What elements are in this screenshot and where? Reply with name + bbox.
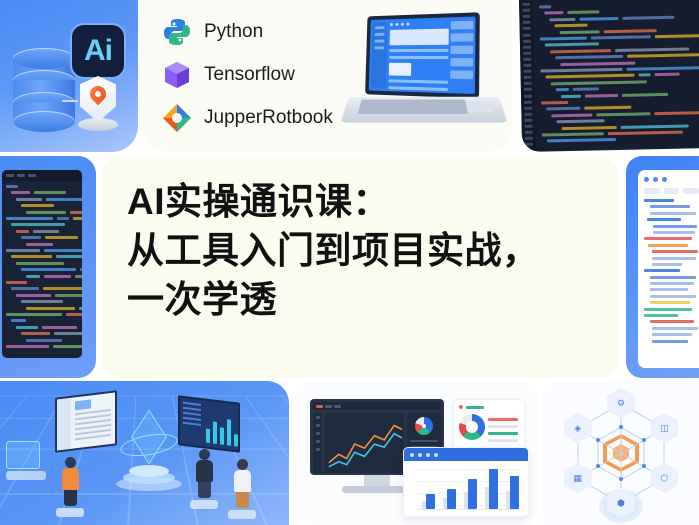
code-line bbox=[608, 131, 683, 136]
note-line bbox=[652, 327, 698, 330]
code-line bbox=[555, 55, 623, 59]
location-pin-icon bbox=[74, 76, 122, 134]
page-title: AI实操通识课： 从工具入门到项目实战， 一次学透 bbox=[127, 178, 609, 324]
code-line bbox=[621, 124, 689, 128]
code-line bbox=[6, 345, 49, 348]
security-tile bbox=[6, 441, 46, 477]
list-item: Tensorflow bbox=[161, 55, 351, 95]
note-line bbox=[650, 288, 688, 291]
code-line bbox=[79, 307, 82, 310]
node-glyph: ◫ bbox=[660, 423, 669, 434]
network-node-4: ⬢ bbox=[607, 488, 635, 518]
code-line bbox=[6, 281, 27, 284]
code-line bbox=[6, 313, 62, 316]
bottom-row: ⚙◫⬡⬢▦◈ bbox=[0, 381, 699, 525]
note-line bbox=[648, 244, 688, 247]
code-line bbox=[539, 5, 551, 8]
top-row: Ai bbox=[0, 0, 699, 152]
code-line bbox=[585, 94, 618, 98]
python-icon bbox=[161, 16, 193, 48]
toolbar-tabs bbox=[644, 188, 699, 194]
code-line bbox=[21, 300, 63, 303]
ai-badge: Ai bbox=[70, 23, 126, 79]
code-line bbox=[544, 11, 563, 14]
network-node-3: ⬡ bbox=[650, 463, 678, 493]
code-line bbox=[16, 294, 51, 297]
code-editor-left-panel bbox=[0, 156, 96, 378]
list-item: JupperRotbook bbox=[161, 98, 351, 138]
code-line bbox=[16, 198, 42, 201]
window-dots bbox=[644, 177, 699, 182]
code-line bbox=[21, 332, 50, 335]
note-line bbox=[650, 301, 690, 304]
note-line bbox=[650, 295, 696, 298]
code-line bbox=[547, 138, 616, 142]
code-line bbox=[43, 287, 82, 290]
code-line bbox=[557, 119, 605, 123]
code-line bbox=[11, 255, 52, 258]
note-line bbox=[650, 212, 696, 215]
document-screen bbox=[55, 390, 117, 453]
code-line bbox=[556, 88, 569, 91]
note-line bbox=[644, 237, 692, 240]
code-line bbox=[560, 30, 600, 34]
node-glyph: ⚙ bbox=[617, 398, 625, 409]
podium bbox=[116, 463, 182, 489]
note-line bbox=[650, 205, 690, 208]
code-line bbox=[26, 211, 66, 214]
code-line bbox=[21, 268, 76, 271]
bar-chart-window bbox=[403, 447, 529, 517]
code-line bbox=[42, 326, 77, 329]
node-glyph: ◈ bbox=[574, 423, 581, 434]
network-vertex bbox=[619, 425, 623, 429]
title-card: AI实操通识课： 从工具入门到项目实战， 一次学透 bbox=[101, 156, 619, 378]
notebook-document-panel bbox=[626, 156, 699, 378]
database-stack-icon bbox=[13, 48, 75, 132]
data-badge-panel: Ai bbox=[0, 0, 138, 152]
code-line bbox=[11, 319, 26, 322]
bar bbox=[447, 489, 456, 509]
code-line bbox=[11, 287, 39, 290]
dashboard-illustration bbox=[295, 381, 537, 525]
node-glyph: ▦ bbox=[573, 473, 582, 484]
title-line-2: 从工具入门到项目实战， bbox=[127, 227, 609, 276]
hologram-cube bbox=[122, 419, 176, 467]
code-line bbox=[75, 275, 82, 278]
code-line bbox=[555, 24, 588, 28]
code-line bbox=[615, 47, 689, 52]
note-line bbox=[653, 231, 695, 234]
code-line bbox=[16, 326, 38, 329]
note-line bbox=[650, 276, 696, 279]
code-line bbox=[584, 106, 631, 110]
network-vertex bbox=[642, 464, 646, 468]
code-line bbox=[6, 185, 18, 188]
note-line bbox=[652, 257, 696, 260]
hexagon-network-diagram: ⚙◫⬡⬢▦◈ bbox=[543, 381, 699, 525]
code-line bbox=[54, 332, 82, 335]
note-line bbox=[647, 218, 681, 221]
list-item: Python bbox=[161, 12, 351, 52]
code-line bbox=[567, 11, 599, 15]
code-line bbox=[542, 132, 604, 136]
note-line bbox=[644, 199, 674, 202]
code-line bbox=[26, 243, 53, 246]
note-line bbox=[644, 269, 680, 272]
code-line bbox=[73, 217, 82, 220]
code-line bbox=[26, 307, 75, 310]
code-line bbox=[540, 68, 622, 73]
network-node-5: ▦ bbox=[564, 463, 592, 493]
code-line bbox=[66, 313, 82, 316]
code-line bbox=[44, 275, 71, 278]
bar bbox=[489, 469, 498, 509]
code-line bbox=[655, 34, 699, 39]
network-node-2: ◫ bbox=[650, 413, 678, 443]
network-node-1: ⚙ bbox=[607, 388, 635, 418]
title-line-1: AI实操通识课： bbox=[127, 178, 609, 227]
note-line bbox=[652, 333, 692, 336]
code-line bbox=[622, 16, 674, 20]
code-line bbox=[561, 94, 581, 97]
tensorflow-cube-icon bbox=[161, 59, 193, 91]
code-line bbox=[21, 204, 54, 207]
code-line bbox=[639, 74, 651, 77]
code-editor-dark-top bbox=[519, 0, 699, 152]
network-node-6: ◈ bbox=[564, 413, 592, 443]
code-line bbox=[545, 43, 599, 47]
tech-stack-card: Python Tensorflow bbox=[143, 0, 512, 152]
code-line bbox=[549, 18, 575, 22]
code-line bbox=[551, 113, 592, 117]
isometric-ai-workspace bbox=[0, 381, 289, 525]
tech-label: Python bbox=[204, 21, 263, 43]
note-line bbox=[644, 314, 678, 317]
bar-chart-plot bbox=[404, 461, 528, 517]
node-glyph: ⬡ bbox=[660, 473, 668, 484]
poster-canvas: Ai bbox=[0, 0, 699, 525]
person-orange bbox=[56, 457, 84, 517]
note-line bbox=[652, 263, 682, 266]
tech-label: JupperRotbook bbox=[204, 107, 333, 129]
code-line bbox=[551, 80, 647, 85]
code-line bbox=[16, 262, 64, 265]
person-white bbox=[228, 459, 256, 519]
donut-chart-card bbox=[453, 399, 525, 451]
network-edge bbox=[598, 441, 599, 467]
middle-row: AI实操通识课： 从工具入门到项目实战， 一次学透 bbox=[0, 156, 699, 378]
network-vertex bbox=[619, 477, 623, 481]
bar-chart-screen bbox=[178, 395, 240, 453]
code-line bbox=[44, 249, 82, 252]
code-line bbox=[26, 339, 62, 342]
code-line bbox=[34, 191, 66, 194]
code-line bbox=[591, 35, 651, 39]
donut-chart bbox=[459, 414, 485, 440]
code-line bbox=[55, 294, 82, 297]
code-line bbox=[11, 223, 65, 226]
code-line bbox=[546, 107, 580, 111]
code-line bbox=[626, 66, 699, 71]
code-line bbox=[46, 198, 82, 201]
line-chart bbox=[325, 413, 404, 473]
tech-label: Tensorflow bbox=[204, 64, 295, 86]
bar bbox=[510, 476, 519, 509]
code-line bbox=[573, 88, 599, 92]
tech-stack-list: Python Tensorflow bbox=[161, 12, 351, 141]
code-line bbox=[45, 236, 78, 239]
code-line bbox=[604, 29, 657, 33]
note-line bbox=[652, 250, 698, 253]
code-line bbox=[56, 255, 82, 258]
code-line bbox=[627, 53, 699, 58]
note-line bbox=[652, 340, 688, 343]
code-line bbox=[70, 211, 82, 214]
person-dark bbox=[190, 449, 218, 509]
code-line bbox=[546, 74, 635, 79]
code-line bbox=[550, 49, 611, 53]
code-line bbox=[57, 217, 69, 220]
code-line bbox=[540, 37, 587, 41]
bar bbox=[468, 479, 477, 509]
code-line bbox=[16, 230, 29, 233]
title-line-3: 一次学透 bbox=[127, 276, 609, 325]
code-line bbox=[53, 345, 82, 348]
code-line bbox=[6, 217, 53, 220]
code-line bbox=[33, 230, 59, 233]
node-glyph: ⬢ bbox=[617, 498, 625, 509]
laptop-illustration bbox=[345, 14, 505, 138]
code-line bbox=[26, 275, 40, 278]
note-line bbox=[644, 308, 692, 311]
code-line bbox=[655, 73, 680, 77]
note-line bbox=[653, 225, 697, 228]
code-line bbox=[562, 126, 617, 130]
jupyter-diamond-icon bbox=[161, 102, 193, 134]
code-line bbox=[21, 236, 41, 239]
note-line bbox=[650, 320, 694, 323]
code-line bbox=[80, 268, 82, 271]
code-line bbox=[11, 191, 30, 194]
code-line bbox=[596, 112, 650, 116]
code-line bbox=[579, 17, 618, 21]
code-line bbox=[622, 92, 668, 96]
note-line bbox=[650, 282, 694, 285]
code-line bbox=[6, 249, 40, 252]
network-edge bbox=[643, 441, 644, 467]
code-line bbox=[541, 101, 568, 105]
code-line bbox=[560, 61, 635, 66]
network-vertex bbox=[642, 438, 646, 442]
bar bbox=[426, 494, 435, 509]
code-line bbox=[654, 111, 699, 115]
